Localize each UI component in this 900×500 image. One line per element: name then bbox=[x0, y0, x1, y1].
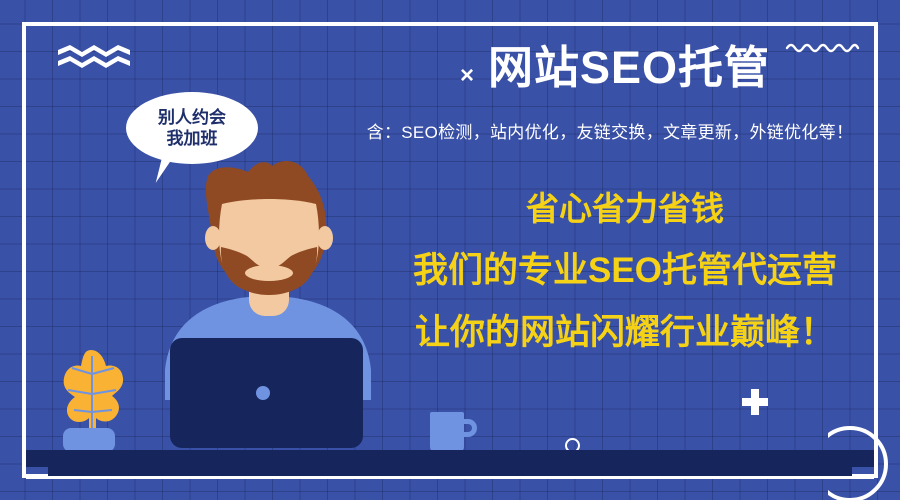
laptop bbox=[170, 338, 363, 448]
plant-leaf-icon bbox=[54, 348, 132, 438]
laptop-logo-dot bbox=[256, 386, 270, 400]
plant-pot bbox=[63, 428, 115, 452]
floor-line bbox=[26, 476, 874, 479]
seo-hosting-banner: × 网站SEO托管 含：SEO检测，站内优化，友链交换，文章更新，外链优化等！ … bbox=[0, 0, 900, 500]
desk-front-panel bbox=[48, 467, 852, 476]
desk-surface bbox=[26, 450, 874, 467]
coffee-mug bbox=[430, 412, 464, 452]
